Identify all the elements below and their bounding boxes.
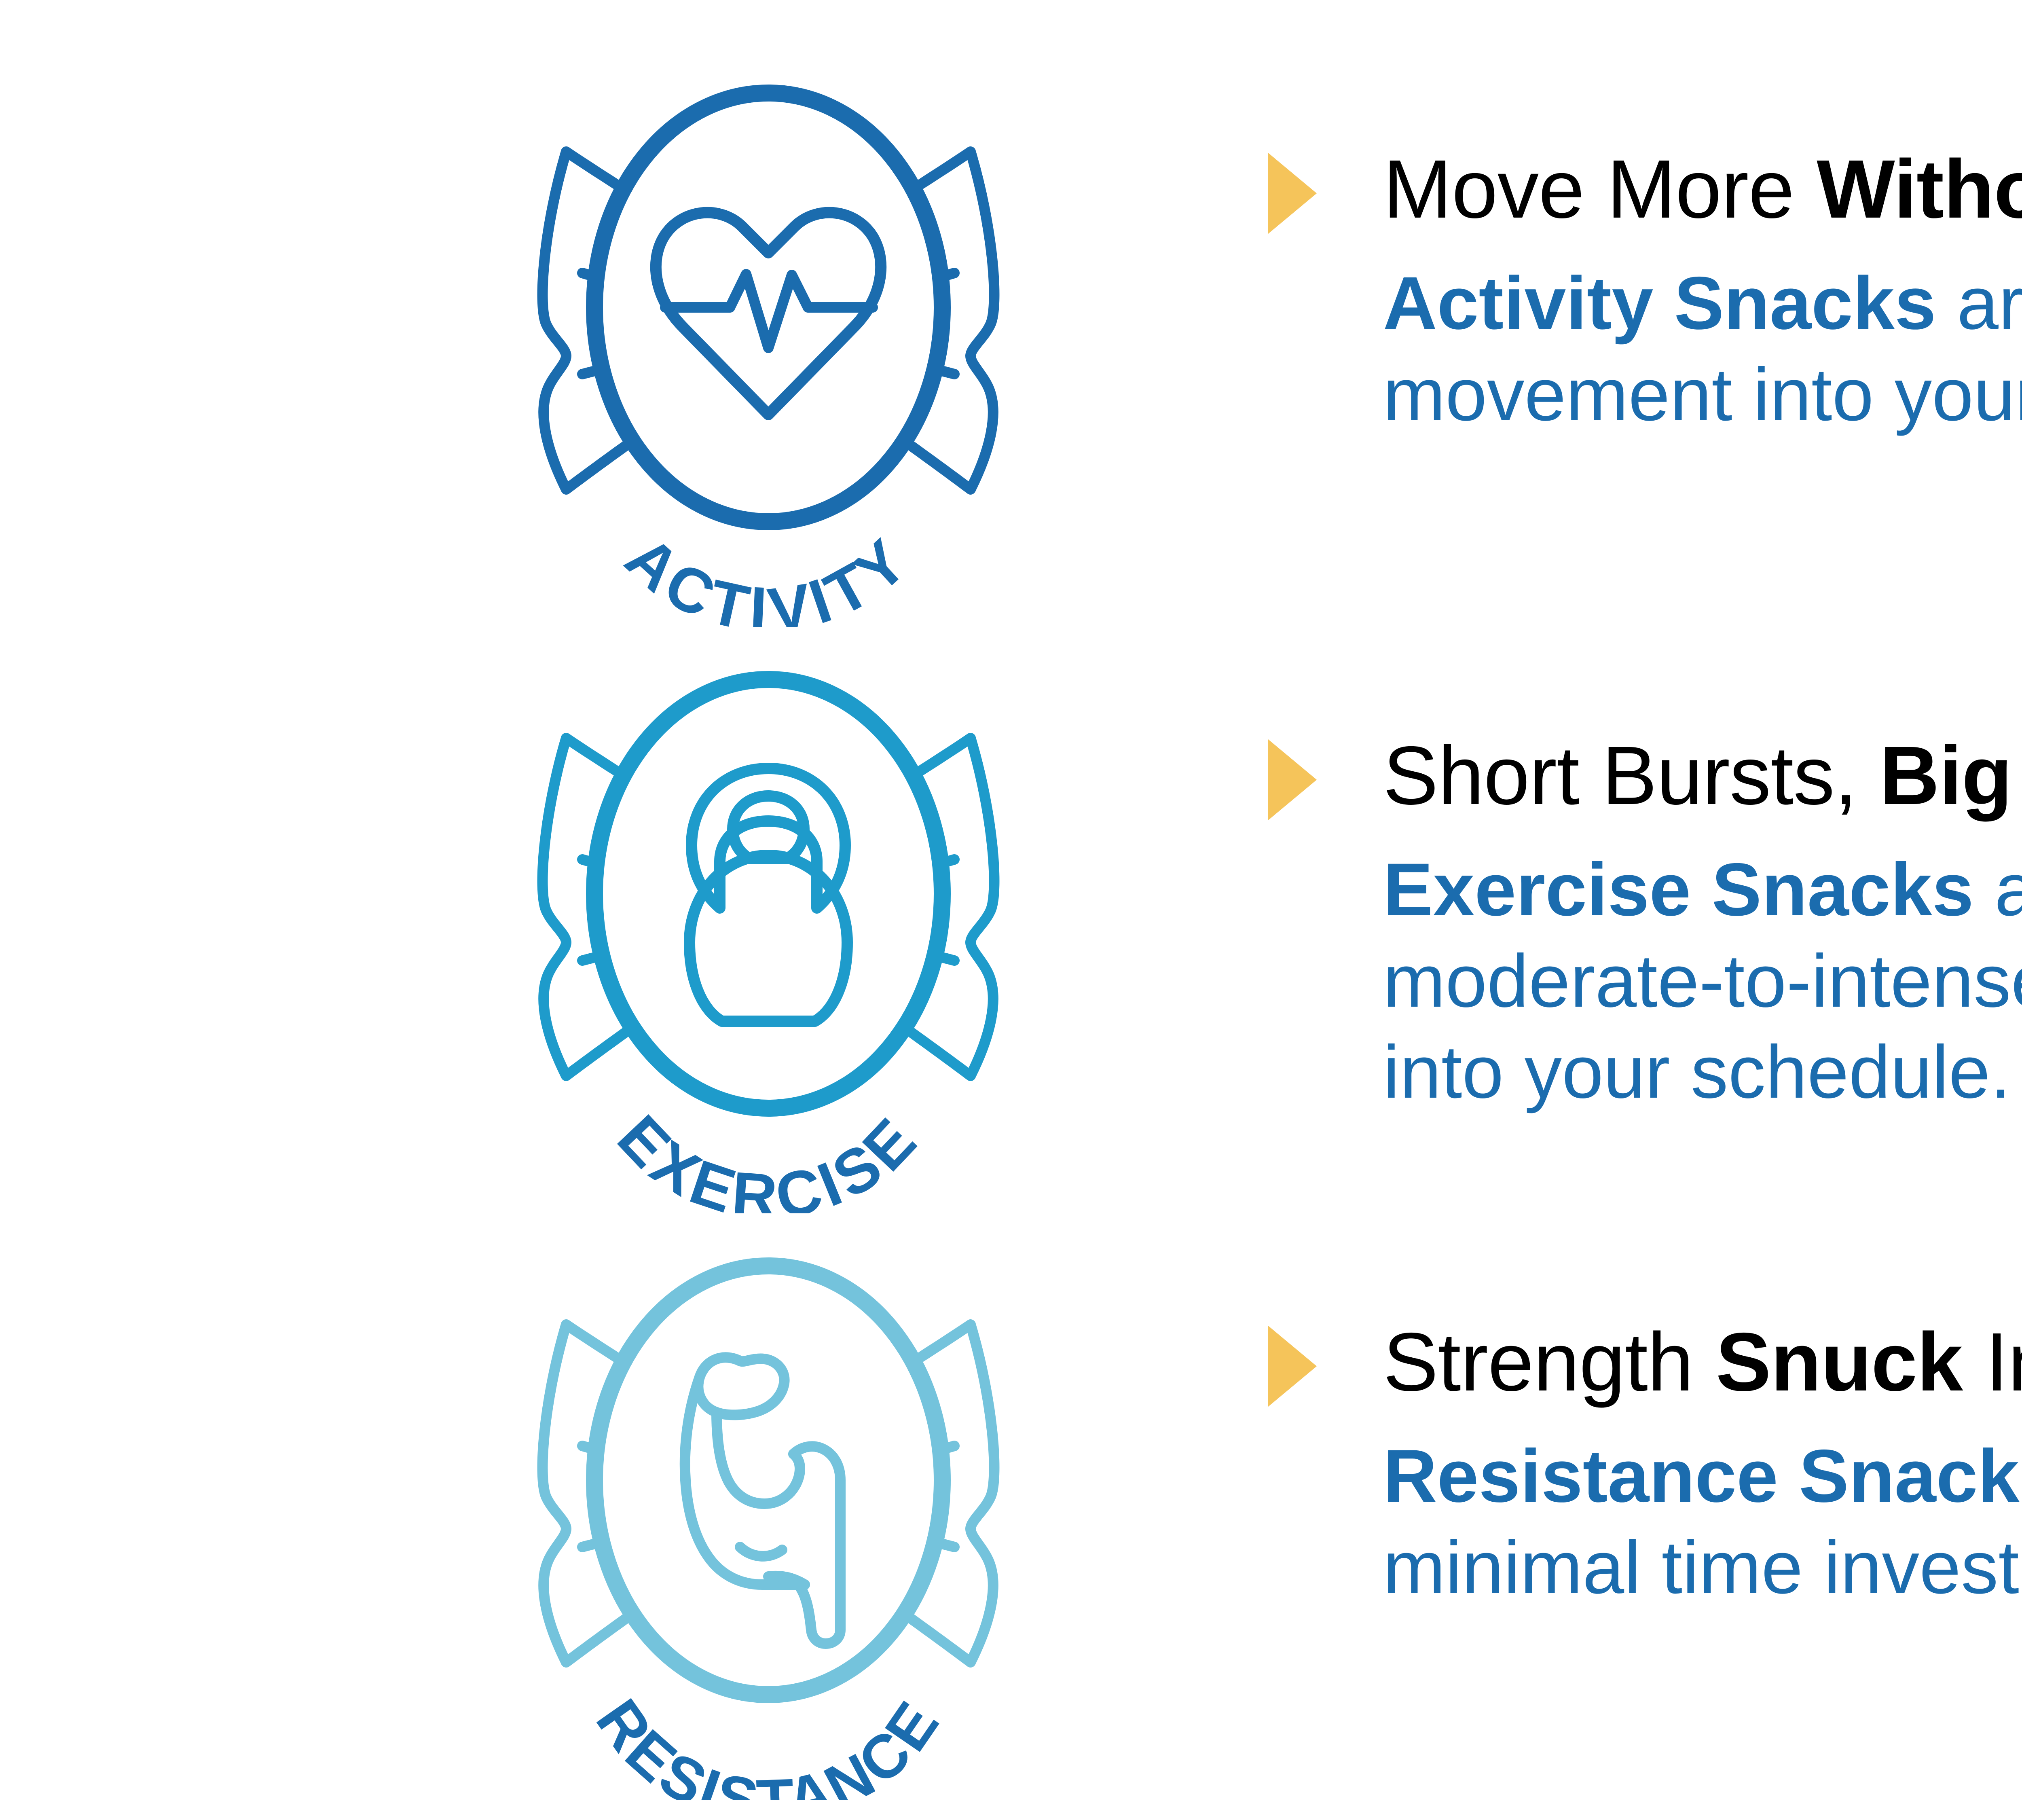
- chevron-right-icon: [1266, 739, 1318, 820]
- infographic-canvas: ACTIVITY Move More Without A Workout! Ac…: [0, 0, 2022, 1820]
- badge-label: ACTIVITY: [613, 523, 924, 627]
- feature-description: Activity Snacks are easy ways to sneak m…: [1383, 258, 2022, 440]
- headline-pre: Short Bursts,: [1383, 729, 1880, 822]
- headline-bold: Snuck: [1716, 1316, 1963, 1408]
- badge-label: EXERCISE: [605, 1102, 932, 1213]
- body-bold: Activity Snacks: [1383, 262, 1936, 345]
- headline-post: Impact!: [2012, 729, 2022, 822]
- body-text: are brief moments of: [1974, 848, 2022, 931]
- feature-text-activity: Move More Without A Workout! Activity Sn…: [1266, 49, 2022, 440]
- candy-activity-icon: ACTIVITY: [364, 49, 1173, 627]
- body-text: moderate-to-intense movement that fit: [1383, 940, 2022, 1023]
- body-text: movement into your routine.: [1383, 353, 2022, 436]
- body-text: minimal time investment.: [1383, 1526, 2022, 1609]
- headline-post: In!: [1963, 1316, 2022, 1408]
- headline-pre: Move More: [1383, 143, 1817, 235]
- feature-text-resistance: Strength Snuck In! Resistance Snacks bui…: [1266, 1221, 2022, 1613]
- chevron-right-icon: [1266, 153, 1318, 234]
- feature-row-resistance: RESISTANCE Strength Snuck In! Resistance…: [0, 1221, 2022, 1808]
- body-bold: Resistance Snacks: [1383, 1435, 2022, 1518]
- feature-text-exercise: Short Bursts, Big Impact! Exercise Snack…: [1266, 635, 2022, 1118]
- headline-bold: Without: [1817, 143, 2022, 235]
- body-text: are easy ways to sneak: [1936, 262, 2022, 345]
- candy-exercise-icon: EXERCISE: [364, 635, 1173, 1213]
- candy-resistance-icon: RESISTANCE: [364, 1221, 1173, 1800]
- page-title: Short Bursts, Big Impact!: [1383, 732, 2022, 819]
- feature-description: Resistance Snacks build muscle with mini…: [1383, 1431, 2022, 1613]
- badge-label: RESISTANCE: [583, 1687, 954, 1800]
- svg-text:EXERCISE: EXERCISE: [605, 1102, 932, 1213]
- feature-row-exercise: EXERCISE Short Bursts, Big Impact! Exerc…: [0, 635, 2022, 1221]
- feature-row-activity: ACTIVITY Move More Without A Workout! Ac…: [0, 49, 2022, 635]
- body-text: into your schedule.: [1383, 1031, 2011, 1114]
- page-title: Strength Snuck In!: [1383, 1318, 2022, 1405]
- feature-description: Exercise Snacks are brief moments of mod…: [1383, 844, 2022, 1118]
- chevron-right-icon: [1266, 1326, 1318, 1407]
- svg-text:ACTIVITY: ACTIVITY: [613, 523, 924, 627]
- page-title: Move More Without A Workout!: [1383, 146, 2022, 233]
- headline-pre: Strength: [1383, 1316, 1716, 1408]
- body-bold: Exercise Snacks: [1383, 848, 1974, 931]
- headline-bold: Big: [1880, 729, 2012, 822]
- svg-text:RESISTANCE: RESISTANCE: [583, 1687, 954, 1800]
